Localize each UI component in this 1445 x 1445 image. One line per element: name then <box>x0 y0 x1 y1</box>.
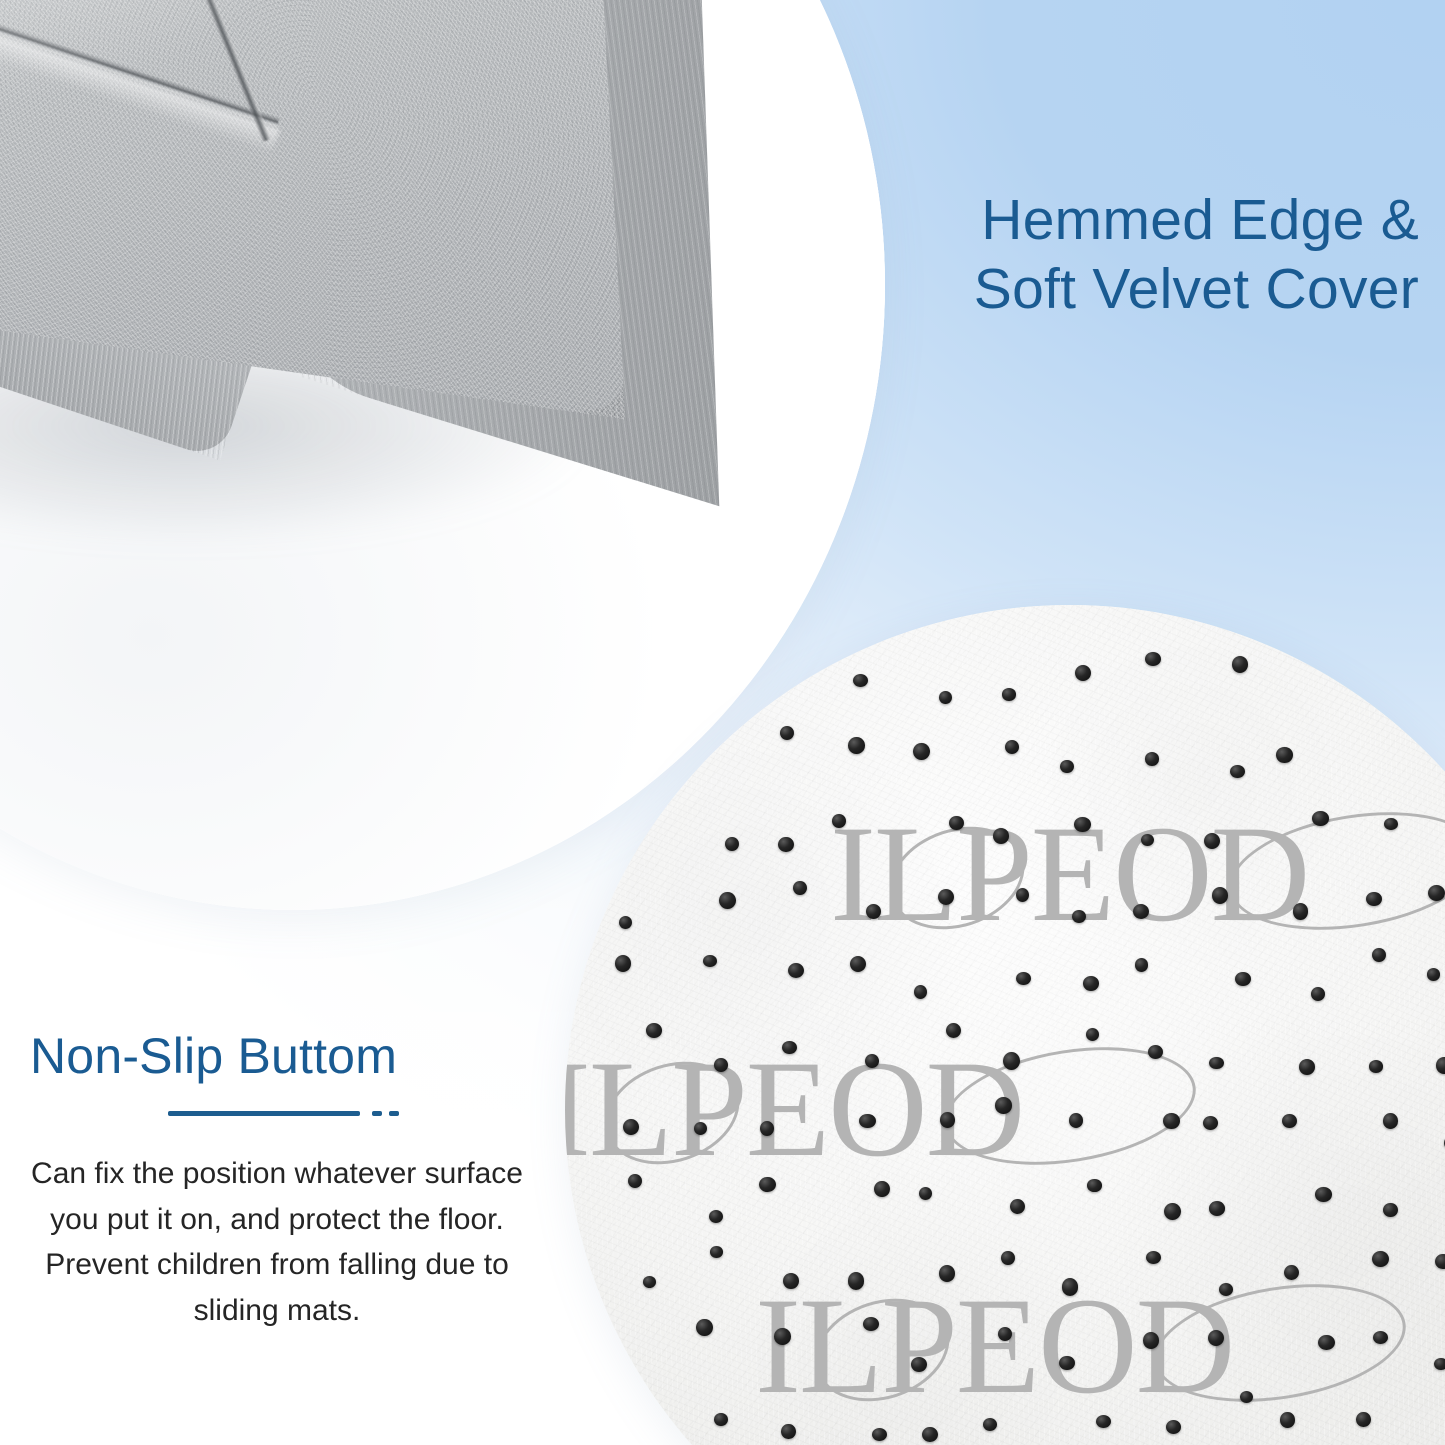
nonslip-dot <box>1204 833 1220 849</box>
nonslip-dot <box>1003 1052 1020 1070</box>
nonslip-text-block: Non-Slip Buttom Can fix the position wha… <box>22 1028 532 1333</box>
nonslip-dot <box>781 1424 796 1440</box>
nonslip-dot <box>1163 1113 1180 1129</box>
nonslip-dot <box>1001 1251 1015 1266</box>
nonslip-dot <box>832 814 846 827</box>
nonslip-dot <box>1164 1203 1181 1220</box>
nonslip-dot <box>1240 1391 1253 1403</box>
heading-line-2: Soft Velvet Cover <box>974 255 1419 324</box>
nonslip-dot <box>911 1357 928 1372</box>
nonslip-dot <box>1209 1201 1226 1216</box>
nonslip-dot <box>1356 1412 1371 1428</box>
heading-line-1: Hemmed Edge & <box>974 186 1419 255</box>
nonslip-dot <box>788 963 804 978</box>
nonslip-dot <box>714 1413 728 1427</box>
nonslip-dot <box>1133 904 1149 919</box>
nonslip-photo-circle: ILPEOD ILPEOD ILPEOD <box>565 605 1445 1445</box>
nonslip-dot <box>1135 958 1148 971</box>
nonslip-dot <box>1166 1420 1182 1434</box>
nonslip-dot <box>1369 1060 1383 1072</box>
nonslip-dot <box>1219 1283 1233 1296</box>
nonslip-dot <box>1282 1114 1297 1129</box>
nonslip-dot <box>760 1121 774 1136</box>
nonslip-dot <box>1010 1199 1025 1214</box>
nonslip-dot <box>913 743 929 760</box>
divider-dash-2 <box>389 1111 399 1116</box>
nonslip-dot <box>1232 656 1248 673</box>
nonslip-dot <box>646 1023 662 1037</box>
nonslip-dot <box>1062 1278 1079 1296</box>
nonslip-dot <box>1280 1412 1295 1427</box>
nonslip-dot <box>719 892 735 909</box>
nonslip-dot <box>1384 818 1398 830</box>
nonslip-dot <box>1372 1251 1389 1268</box>
nonslip-dot <box>872 1428 887 1441</box>
nonslip-dot <box>1016 888 1029 902</box>
heading-non-slip-bottom: Non-Slip Buttom <box>22 1028 532 1085</box>
nonslip-dot <box>1293 903 1308 919</box>
nonslip-dot <box>1372 948 1386 962</box>
nonslip-dot <box>1311 987 1325 1001</box>
nonslip-dot <box>628 1174 642 1188</box>
nonslip-dot <box>938 889 954 905</box>
nonslip-dot <box>1087 1179 1101 1191</box>
nonslip-dot <box>759 1177 776 1192</box>
divider-bar <box>168 1111 360 1116</box>
nonslip-dot <box>1299 1059 1316 1075</box>
nonslip-dot <box>1060 760 1073 773</box>
title-divider <box>168 1111 408 1117</box>
nonslip-dot <box>725 837 739 851</box>
nonslip-dot <box>848 1272 864 1289</box>
nonslip-dot <box>1209 1057 1223 1069</box>
nonslip-dot <box>1146 1251 1161 1264</box>
nonslip-dot <box>623 1119 639 1135</box>
nonslip-dot-grid <box>565 605 1445 1445</box>
nonslip-dot <box>859 1114 876 1129</box>
nonslip-dot <box>1083 976 1099 991</box>
nonslip-dot <box>940 1112 955 1127</box>
nonslip-dot <box>949 816 963 830</box>
description-line-1: Can fix the position whatever surface <box>22 1151 532 1197</box>
nonslip-dot <box>1075 665 1091 681</box>
nonslip-dot <box>1366 892 1382 906</box>
nonslip-dot <box>983 1418 997 1431</box>
nonslip-dot <box>643 1276 656 1288</box>
nonslip-dot <box>850 956 866 972</box>
nonslip-dot <box>1284 1265 1299 1280</box>
cushion-product-image <box>0 0 660 580</box>
nonslip-dot <box>1436 1057 1445 1074</box>
nonslip-dot <box>793 881 807 896</box>
nonslip-dot <box>1212 887 1228 903</box>
nonslip-dot <box>710 1246 724 1258</box>
nonslip-description: Can fix the position whatever surface yo… <box>22 1151 532 1333</box>
nonslip-dot <box>1016 972 1031 985</box>
nonslip-dot <box>774 1328 790 1345</box>
nonslip-dot <box>1427 968 1441 980</box>
nonslip-dot <box>1143 1332 1159 1348</box>
description-line-4: sliding mats. <box>22 1288 532 1334</box>
nonslip-dot <box>1059 1356 1075 1371</box>
nonslip-dot <box>782 1041 797 1054</box>
nonslip-dot <box>1002 688 1016 700</box>
nonslip-dot <box>694 1122 707 1135</box>
nonslip-dot <box>1276 747 1292 763</box>
nonslip-dot <box>866 904 882 920</box>
nonslip-dot <box>1208 1330 1224 1346</box>
nonslip-dot <box>1145 652 1161 666</box>
nonslip-dot <box>919 1187 933 1200</box>
infographic-canvas: ILPEOD ILPEOD ILPEOD Hemmed Edge & Soft … <box>0 0 1445 1445</box>
nonslip-dot <box>1086 1028 1099 1041</box>
nonslip-dot <box>619 916 632 929</box>
nonslip-dot <box>1383 1203 1397 1217</box>
nonslip-dot <box>1074 817 1091 832</box>
nonslip-dot <box>865 1054 880 1068</box>
nonslip-dot <box>848 737 864 754</box>
nonslip-dot <box>1435 1254 1445 1269</box>
nonslip-dot <box>1203 1116 1218 1130</box>
description-line-3: Prevent children from falling due to <box>22 1242 532 1288</box>
nonslip-dot <box>946 1023 961 1038</box>
nonslip-dot <box>1096 1415 1111 1428</box>
nonslip-dot <box>993 828 1009 844</box>
nonslip-dot <box>696 1319 713 1336</box>
nonslip-dot <box>1383 1113 1399 1129</box>
nonslip-dot <box>1005 740 1019 754</box>
nonslip-dot <box>615 955 632 972</box>
nonslip-dot <box>714 1058 728 1072</box>
nonslip-dot <box>703 955 717 967</box>
nonslip-dot <box>1318 1335 1335 1350</box>
nonslip-dot <box>922 1427 938 1442</box>
nonslip-dot <box>914 985 927 999</box>
nonslip-dot <box>939 1265 955 1281</box>
nonslip-dot <box>995 1097 1012 1113</box>
nonslip-dot <box>1315 1187 1331 1202</box>
nonslip-dot <box>1145 752 1160 766</box>
nonslip-dot <box>1069 1113 1083 1127</box>
description-line-2: you put it on, and protect the floor. <box>22 1197 532 1243</box>
nonslip-dot <box>1428 885 1445 901</box>
nonslip-dot <box>998 1327 1012 1341</box>
nonslip-dot <box>863 1317 879 1331</box>
nonslip-dot <box>709 1210 723 1223</box>
nonslip-dot <box>939 691 952 705</box>
nonslip-dot <box>1141 834 1154 846</box>
heading-hemmed-edge: Hemmed Edge & Soft Velvet Cover <box>974 186 1419 324</box>
nonslip-dot <box>874 1181 890 1197</box>
nonslip-dot <box>1312 811 1328 825</box>
nonslip-dot <box>778 837 794 853</box>
nonslip-dot <box>1434 1358 1445 1370</box>
nonslip-dot <box>853 674 868 687</box>
nonslip-dot <box>1235 972 1251 986</box>
nonslip-dot <box>1072 910 1086 923</box>
nonslip-dot <box>1148 1045 1163 1059</box>
nonslip-dot <box>780 726 795 741</box>
nonslip-dot <box>783 1273 799 1289</box>
divider-dash-1 <box>372 1111 382 1116</box>
nonslip-dot <box>1230 765 1245 779</box>
nonslip-dot <box>1373 1331 1388 1344</box>
